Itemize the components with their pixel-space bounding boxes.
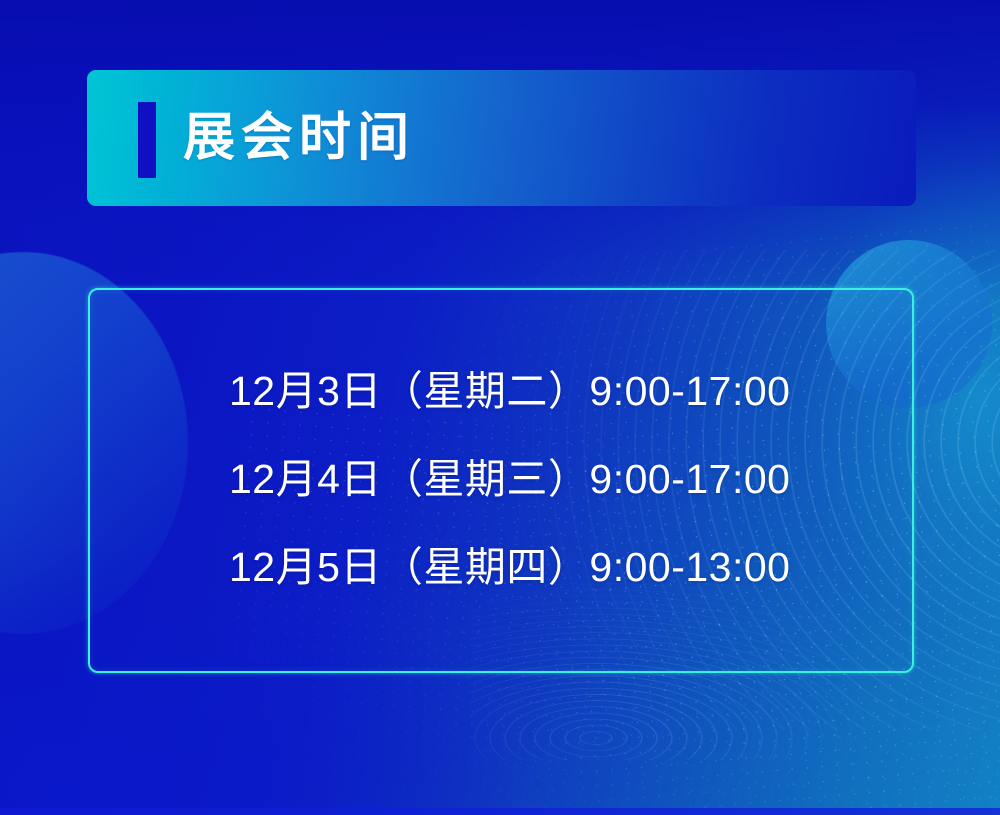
header-banner: 展会时间 <box>87 70 916 206</box>
bottom-edge-strip <box>0 808 1000 815</box>
schedule-list: 12月3日（星期二）9:00-17:00 12月4日（星期三）9:00-17:0… <box>90 371 912 588</box>
poster-canvas: 展会时间 12月3日（星期二）9:00-17:00 12月4日（星期三）9:00… <box>0 0 1000 815</box>
page-title: 展会时间 <box>183 112 415 164</box>
schedule-row-1: 12月3日（星期二）9:00-17:00 <box>229 371 912 412</box>
schedule-row-2: 12月4日（星期三）9:00-17:00 <box>229 459 912 500</box>
schedule-row-3: 12月5日（星期四）9:00-13:00 <box>229 547 912 588</box>
header-accent-bar-icon <box>138 102 156 178</box>
schedule-frame: 12月3日（星期二）9:00-17:00 12月4日（星期三）9:00-17:0… <box>88 288 914 673</box>
